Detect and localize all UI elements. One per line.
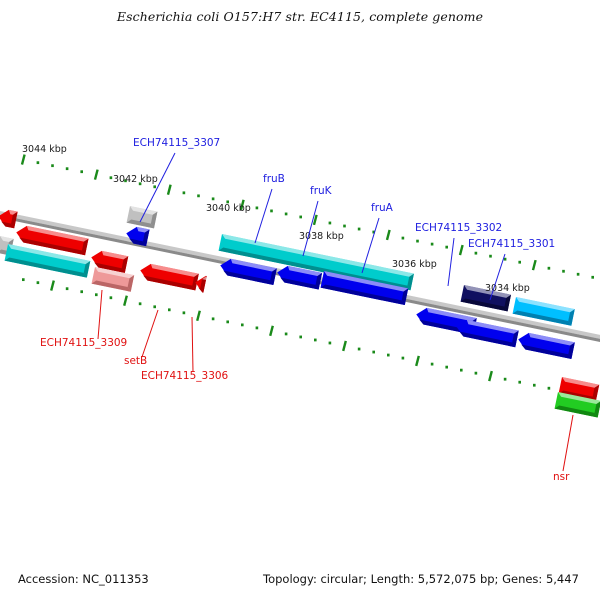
ruler-tick-minor — [329, 342, 332, 345]
ruler-tick-minor — [314, 339, 317, 342]
ruler-tick-minor — [197, 194, 200, 197]
leader-line-nsr — [563, 415, 573, 471]
ruler-tick-minor — [66, 287, 69, 290]
ruler-tick-minor — [445, 246, 448, 249]
ruler-tick-minor — [548, 387, 551, 390]
ruler-tick-minor — [591, 276, 594, 279]
accession-text: Accession: NC_011353 — [18, 572, 149, 586]
ruler-tick-minor — [504, 378, 507, 381]
ruler-tick-minor — [139, 302, 142, 305]
gene-label-ECH74115_3307[interactable]: ECH74115_3307 — [133, 137, 220, 149]
ruler-tick-major — [197, 311, 200, 321]
ruler-tick-minor — [402, 357, 405, 360]
ruler-label-5: 3034 kbp — [485, 283, 530, 294]
gene-blue-7[interactable] — [517, 331, 575, 359]
ruler-tick-minor — [416, 240, 419, 243]
ruler-tick-major — [314, 215, 317, 225]
ruler-tick-major — [416, 356, 419, 366]
ruler-tick-major — [387, 230, 390, 240]
ruler-tick-minor — [358, 348, 361, 351]
ruler-tick-minor — [241, 323, 244, 326]
genome-map-page: Escherichia coli O157:H7 str. EC4115, co… — [0, 0, 600, 600]
gene-label-ECH74115_3301[interactable]: ECH74115_3301 — [468, 238, 555, 250]
leader-line-ECH74115_3309 — [98, 290, 102, 339]
ruler-tick-major — [95, 170, 98, 180]
gene-labels[interactable]: ECH74115_3307fruBfruKfruAECH74115_3302EC… — [40, 137, 570, 483]
leader-line-ECH74115_3302 — [448, 238, 454, 286]
ruler-tick-major — [460, 245, 463, 255]
ruler-tick-major — [168, 185, 171, 195]
ruler-tick-minor — [562, 270, 565, 273]
ruler-tick-minor — [51, 164, 54, 167]
ruler-tick-major — [124, 296, 127, 306]
gene-pink-1[interactable] — [92, 267, 135, 292]
ruler-tick-minor — [358, 228, 361, 231]
ruler-tick-minor — [212, 317, 215, 320]
ruler-tick-minor — [475, 372, 478, 375]
gene-label-setB[interactable]: setB — [124, 355, 147, 367]
ruler-label-1: 3042 kbp — [113, 174, 158, 185]
leader-line-fruB — [255, 189, 272, 243]
ruler-tick-minor — [226, 320, 229, 323]
ruler-tick-major — [533, 260, 536, 270]
ruler-tick-major — [22, 155, 25, 165]
ruler-label-0: 3044 kbp — [22, 144, 67, 155]
ruler-tick-minor — [110, 296, 113, 299]
ruler-tick-minor — [168, 308, 171, 311]
gene-label-ECH74115_3309[interactable]: ECH74115_3309 — [40, 337, 127, 349]
ruler-tick-minor — [256, 327, 259, 330]
label-leader-lines — [98, 153, 573, 471]
ruler-tick-minor — [256, 207, 259, 210]
ruler-tick-minor — [489, 255, 492, 258]
ruler-tick-minor — [533, 384, 536, 387]
ruler-tick-minor — [577, 273, 580, 276]
genome-map-canvas[interactable]: 3044 kbp3042 kbp3040 kbp3038 kbp3036 kbp… — [0, 0, 600, 600]
ruler-tick-minor — [475, 252, 478, 255]
ruler-tick-minor — [285, 213, 288, 216]
ruler-tick-minor — [95, 293, 98, 296]
ruler-tick-minor — [402, 237, 405, 240]
gene-label-fruA[interactable]: fruA — [371, 202, 394, 214]
leader-line-setB — [142, 310, 158, 357]
ruler-tick-minor — [460, 369, 463, 372]
ruler-label-2: 3040 kbp — [206, 203, 251, 214]
ruler-tick-minor — [183, 191, 186, 194]
ruler-tick-minor — [66, 167, 69, 170]
ruler-tick-minor — [37, 281, 40, 284]
ruler-tick-minor — [431, 243, 434, 246]
gene-label-fruK[interactable]: fruK — [310, 185, 333, 197]
ruler-tick-major — [270, 326, 273, 336]
ruler-tick-minor — [153, 185, 156, 188]
ruler-label-3: 3038 kbp — [299, 231, 344, 242]
ruler-label-4: 3036 kbp — [392, 259, 437, 270]
gene-blue-2[interactable] — [219, 257, 277, 285]
ruler-tick-minor — [518, 261, 521, 264]
ruler-tick-minor — [343, 225, 346, 228]
gene-label-ECH74115_3302[interactable]: ECH74115_3302 — [415, 222, 502, 234]
ruler-tick-minor — [299, 216, 302, 219]
ruler-tick-minor — [372, 351, 375, 354]
leader-line-fruK — [303, 201, 318, 256]
ruler-tick-minor — [153, 305, 156, 308]
ruler-tick-minor — [285, 333, 288, 336]
ruler-tick-major — [51, 281, 54, 291]
leader-line-ECH74115_3306 — [192, 317, 193, 372]
ruler-tick-minor — [329, 222, 332, 225]
ruler-tick-minor — [37, 161, 40, 164]
ruler-tick-minor — [212, 197, 215, 200]
ruler-tick-minor — [518, 381, 521, 384]
ruler-tick-minor — [80, 290, 83, 293]
gene-label-nsr[interactable]: nsr — [553, 471, 570, 483]
ruler-tick-minor — [22, 278, 25, 281]
ruler-tick-major — [343, 341, 346, 351]
ruler-tick-minor — [183, 311, 186, 314]
ruler-tick-minor — [270, 210, 273, 213]
ruler-tick-minor — [80, 170, 83, 173]
ruler-tick-minor — [431, 363, 434, 366]
ruler-tick-minor — [299, 336, 302, 339]
ruler-tick-minor — [110, 176, 113, 179]
gene-red-4[interactable] — [139, 262, 199, 290]
ruler-tick-minor — [504, 258, 507, 261]
ruler-tick-minor — [445, 366, 448, 369]
genome-stats-text: Topology: circular; Length: 5,572,075 bp… — [263, 572, 579, 586]
gene-red-1[interactable] — [0, 208, 18, 228]
gene-label-fruB[interactable]: fruB — [263, 173, 285, 185]
gene-label-ECH74115_3306[interactable]: ECH74115_3306 — [141, 370, 229, 382]
ruler-tick-minor — [387, 354, 390, 357]
ruler-tick-minor — [548, 267, 551, 270]
ruler-tick-major — [489, 371, 492, 381]
